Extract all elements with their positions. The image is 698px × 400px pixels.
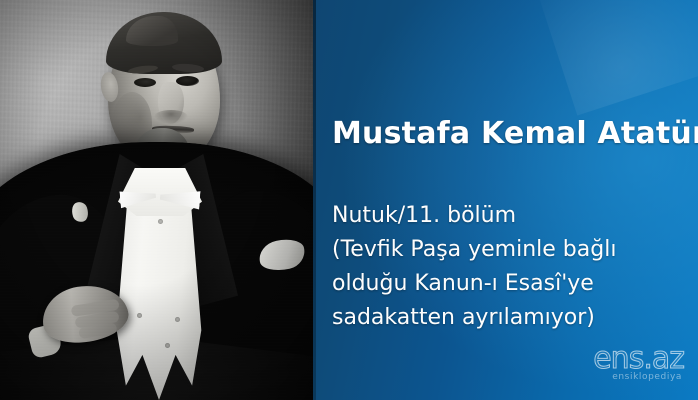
banner-image: Mustafa Kemal Atatürk Nutuk/11. bölüm (T… [0, 0, 698, 400]
page-title: Mustafa Kemal Atatürk [332, 116, 698, 151]
subtitle-line-3: olduğu Kanun-ı Esasî'ye [332, 267, 698, 301]
panel-left-edge [313, 0, 316, 400]
logo-tagline: ensiklopediya [560, 372, 688, 383]
subtitle-block: Nutuk/11. bölüm (Tevfik Paşa yeminle bağ… [332, 199, 698, 335]
subtitle-line-2: (Tevfik Paşa yeminle bağlı [332, 233, 698, 267]
logo-wordmark: ens.az [560, 344, 688, 374]
panel-gloss [528, 0, 698, 115]
subtitle-line-1: Nutuk/11. bölüm [332, 199, 698, 233]
ensaz-logo[interactable]: ens.az ensiklopediya [560, 344, 688, 386]
portrait-photo [0, 0, 313, 400]
subtitle-line-4: sadakatten ayrılamıyor) [332, 301, 698, 335]
photo-vignette [0, 0, 313, 400]
caption-panel: Mustafa Kemal Atatürk Nutuk/11. bölüm (T… [313, 0, 698, 400]
